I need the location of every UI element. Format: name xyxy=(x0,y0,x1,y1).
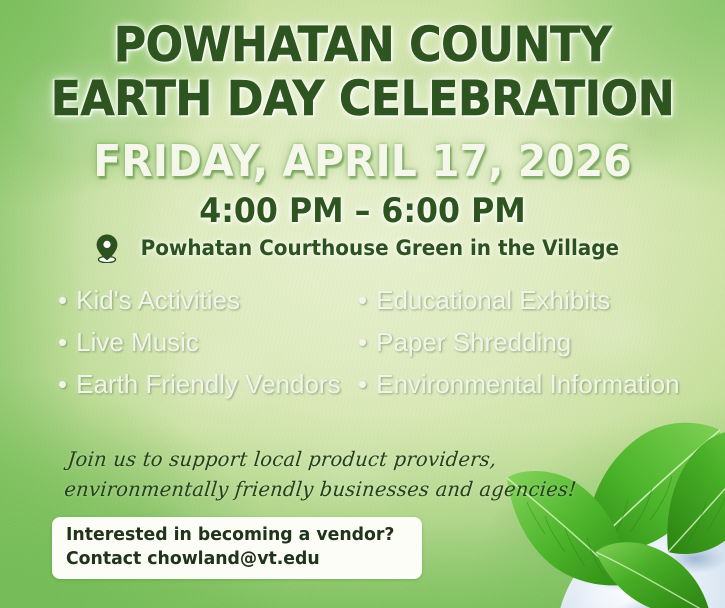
list-item: • Educational Exhibits xyxy=(358,279,718,321)
list-item-label: Environmental Information xyxy=(376,363,679,405)
list-item-label: Live Music xyxy=(76,321,199,363)
list-item: • Kid's Activities xyxy=(58,279,358,321)
poster-content: POWHATAN COUNTY EARTH DAY CELEBRATION FR… xyxy=(0,0,725,608)
list-item-label: Educational Exhibits xyxy=(376,279,610,321)
support-message-line-2: environmentally friendly businesses and … xyxy=(63,474,590,504)
bullet-marker-icon: • xyxy=(358,279,367,321)
event-time: 4:00 PM – 6:00 PM xyxy=(25,192,699,230)
bullet-marker-icon: • xyxy=(58,363,67,405)
activities-column-left: • Kid's Activities • Live Music • Earth … xyxy=(58,279,358,405)
title-line-1: POWHATAN COUNTY xyxy=(29,18,696,72)
list-item-label: Earth Friendly Vendors xyxy=(76,363,340,405)
venue-text: Powhatan Courthouse Green in the Village xyxy=(140,236,618,260)
support-message-line-1: Join us to support local product provide… xyxy=(66,444,593,474)
vendor-prompt-text: Interested in becoming a vendor? xyxy=(66,523,394,547)
list-item: • Environmental Information xyxy=(358,363,718,405)
page-title: POWHATAN COUNTY EARTH DAY CELEBRATION xyxy=(0,18,725,126)
vendor-contact-box: Interested in becoming a vendor? Contact… xyxy=(52,517,422,579)
bullet-marker-icon: • xyxy=(358,363,367,405)
list-item-label: Paper Shredding xyxy=(376,321,571,363)
list-item: • Paper Shredding xyxy=(358,321,718,363)
title-line-2: EARTH DAY CELEBRATION xyxy=(29,72,696,126)
location-pin-icon xyxy=(94,233,120,263)
earth-day-poster: POWHATAN COUNTY EARTH DAY CELEBRATION FR… xyxy=(0,0,725,608)
bullet-marker-icon: • xyxy=(358,321,367,363)
activities-column-right: • Educational Exhibits • Paper Shredding… xyxy=(358,279,718,405)
vendor-contact-email[interactable]: Contact chowland@vt.edu xyxy=(66,547,394,571)
venue-row: Powhatan Courthouse Green in the Village xyxy=(0,233,725,263)
list-item: • Live Music xyxy=(58,321,358,363)
list-item: • Earth Friendly Vendors xyxy=(58,363,358,405)
event-date: FRIDAY, APRIL 17, 2026 xyxy=(25,138,699,186)
bullet-marker-icon: • xyxy=(58,321,67,363)
list-item-label: Kid's Activities xyxy=(76,279,240,321)
support-message: Join us to support local product provide… xyxy=(63,444,593,504)
activities-list: • Kid's Activities • Live Music • Earth … xyxy=(58,279,718,405)
bullet-marker-icon: • xyxy=(58,279,67,321)
